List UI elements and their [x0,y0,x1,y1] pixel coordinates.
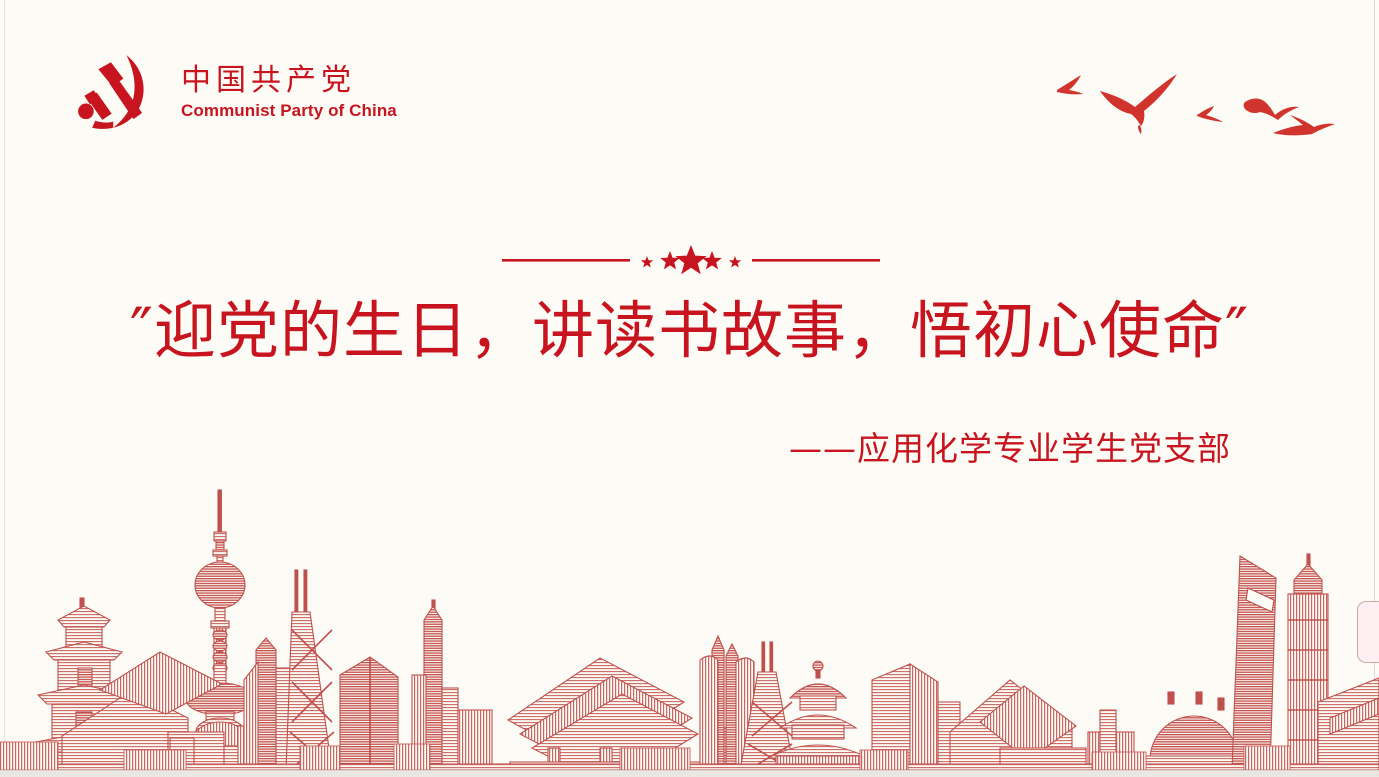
landmark-glass-tower [340,657,398,770]
page-bottom-bar [0,770,1379,777]
cpc-logo-block: 中国共产党 Communist Party of China [75,52,397,134]
flying-birds-icon [1045,55,1345,155]
page-edge-tab[interactable] [1357,601,1379,663]
page-title: ″迎党的生日，讲读书故事，悟初心使命″ [0,292,1379,370]
page-subtitle: ——应用化学专业学生党支部 [789,428,1231,471]
org-name-cn: 中国共产党 [181,64,397,99]
slide-canvas: 中国共产党 Communist Party of China [0,0,1379,777]
landmark-bank-of-china-tower [286,570,334,770]
five-stars-divider-icon [490,243,890,277]
logo-text-group: 中国共产党 Communist Party of China [181,64,397,123]
city-skyline-illustration [0,470,1379,770]
landmark-shanghai-world-financial-center [1232,556,1276,770]
skyline-svg [0,470,1379,770]
star-divider [0,243,1379,277]
org-name-en: Communist Party of China [181,100,397,122]
hammer-and-sickle-icon [75,52,153,134]
landmark-sweep-roof-hall [950,680,1086,770]
landmark-dome-building [1146,692,1242,770]
